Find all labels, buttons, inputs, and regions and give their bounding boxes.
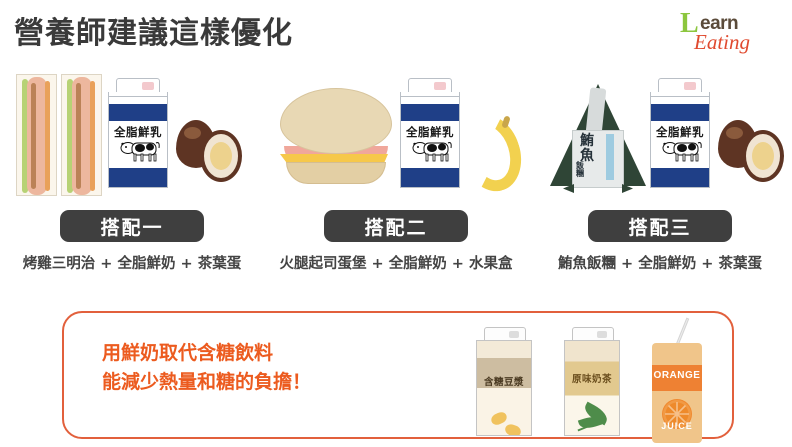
combo-option-2[interactable]: 全脂鮮乳	[264, 70, 528, 285]
milk-carton-stamp	[142, 82, 154, 90]
milk-carton-band-bottom	[651, 168, 709, 187]
combo-2-caption: 火腿起司蛋堡 + 全脂鮮奶 + 水果盒	[264, 252, 528, 273]
cow-icon	[408, 138, 454, 164]
juice-box-subtitle: JUICE	[652, 421, 702, 431]
whole-milk-carton-icon: 全脂鮮乳	[400, 78, 462, 190]
cow-icon	[658, 138, 704, 164]
muffin-top-bun	[280, 88, 392, 154]
onigiri-label-sub: 飯糰	[576, 162, 587, 179]
tip-callout-text: 用鮮奶取代含糖飲料 能減少熱量和糖的負擔！	[102, 339, 311, 398]
combo-1-illustration: 全脂鮮乳	[0, 70, 264, 198]
sandwich-half-right	[61, 74, 102, 196]
soy-carton-stamp	[509, 331, 519, 338]
logo-word-eating: Eating	[694, 32, 750, 53]
tea-egg-yolk	[752, 142, 774, 170]
combo-1-caption: 烤雞三明治 + 全脂鮮奶 + 茶葉蛋	[0, 252, 264, 273]
combo-3-illustration: 鮪魚 飯糰 全脂鮮乳	[528, 70, 792, 198]
orange-juice-box-icon: ORANGE JUICE	[652, 329, 704, 447]
tip-line-2: 能減少熱量和糖的負擔！	[102, 368, 311, 397]
tea-egg-icon	[718, 120, 784, 184]
banana-icon	[462, 114, 522, 194]
brand-logo: L earn Eating	[670, 8, 782, 54]
plain-milk-tea-carton-icon: 原味奶茶	[564, 327, 622, 437]
juice-box-body: ORANGE JUICE	[652, 343, 702, 443]
sandwich-chicken	[27, 77, 47, 195]
tea-egg-yolk	[210, 142, 232, 170]
combo-3-caption: 鮪魚飯糰 + 全脂鮮奶 + 茶葉蛋	[528, 252, 792, 273]
tip-callout: 用鮮奶取代含糖飲料 能減少熱量和糖的負擔！ 含糖豆漿 原味奶茶	[62, 311, 734, 439]
onigiri-label-main: 鮪魚	[580, 134, 598, 163]
grilled-chicken-sandwich-icon	[16, 74, 104, 196]
milk-carton-band-top	[109, 104, 167, 121]
soybean	[489, 410, 508, 427]
combo-2-badge: 搭配二	[324, 210, 468, 242]
sweetened-soy-milk-carton-icon: 含糖豆漿	[476, 327, 534, 437]
tuna-rice-ball-icon: 鮪魚 飯糰	[550, 84, 646, 194]
ham-cheese-egg-muffin-icon	[278, 86, 394, 190]
milk-carton-stamp	[434, 82, 446, 90]
combo-1-badge: 搭配一	[60, 210, 204, 242]
milk-carton-band-top	[651, 104, 709, 121]
combo-option-1[interactable]: 全脂鮮乳	[0, 70, 264, 285]
milk-carton-band-top	[401, 104, 459, 121]
combo-option-3[interactable]: 鮪魚 飯糰 全脂鮮乳	[528, 70, 792, 285]
sandwich-half-left	[16, 74, 57, 196]
tea-egg-icon	[176, 120, 242, 184]
soybean	[504, 423, 523, 436]
slide-root: 營養師建議這樣優化 L earn Eating	[0, 0, 792, 445]
banana-body	[451, 107, 530, 199]
tip-line-1: 用鮮奶取代含糖飲料	[102, 339, 311, 368]
sandwich-carrot	[90, 81, 95, 191]
milk-carton-stamp	[684, 82, 696, 90]
tea-carton-label: 原味奶茶	[564, 371, 620, 385]
sandwich-chicken	[72, 77, 92, 195]
tea-carton-body	[564, 340, 620, 436]
whole-milk-carton-icon: 全脂鮮乳	[650, 78, 712, 190]
whole-milk-carton-icon: 全脂鮮乳	[108, 78, 170, 190]
soy-carton-label: 含糖豆漿	[476, 374, 532, 388]
milk-carton-band-bottom	[401, 168, 459, 187]
onigiri-blue-stripe	[606, 134, 614, 180]
cow-icon	[116, 138, 162, 164]
soy-carton-body	[476, 340, 532, 436]
muffin-bottom-bun	[286, 162, 386, 184]
milk-carton-band-bottom	[109, 168, 167, 187]
tea-carton-stamp	[597, 331, 607, 338]
sandwich-carrot	[45, 81, 50, 191]
juice-box-title: ORANGE	[652, 370, 702, 381]
combo-3-badge: 搭配三	[588, 210, 732, 242]
page-title: 營養師建議這樣優化	[14, 8, 293, 52]
combo-2-illustration: 全脂鮮乳	[264, 70, 528, 198]
